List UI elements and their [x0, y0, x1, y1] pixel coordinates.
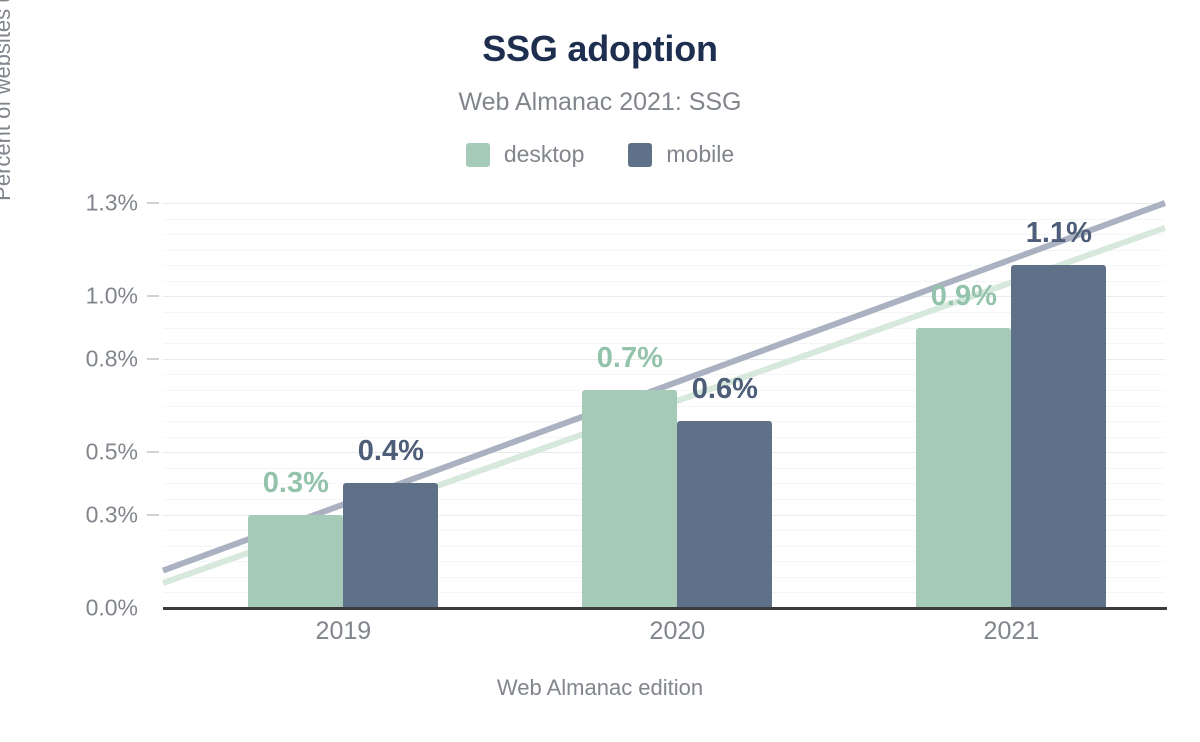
bar-value-label-mobile-2020: 0.6% [645, 373, 805, 406]
y-axis-tick-mark [147, 358, 159, 360]
y-axis-tick-label: 0.3% [18, 501, 138, 528]
x-axis-tick-label-2021: 2021 [891, 617, 1131, 646]
legend-item-desktop[interactable]: desktop [466, 141, 585, 168]
x-axis-baseline [163, 607, 1167, 610]
bar-mobile-2021[interactable] [1011, 265, 1106, 608]
bar-desktop-2020[interactable] [582, 390, 677, 608]
legend-item-label: mobile [666, 141, 734, 168]
legend-item-mobile[interactable]: mobile [628, 141, 734, 168]
legend-swatch-icon [628, 143, 652, 167]
chart-subtitle: Web Almanac 2021: SSG [0, 88, 1200, 117]
y-axis-tick-label: 1.0% [18, 283, 138, 310]
x-axis-tick-label-2019: 2019 [223, 617, 463, 646]
y-axis-tick-label: 0.5% [18, 439, 138, 466]
bar-value-label-desktop-2021: 0.9% [884, 280, 1044, 313]
bar-mobile-2019[interactable] [343, 483, 438, 608]
bar-desktop-2021[interactable] [916, 328, 1011, 608]
y-axis-tick-label: 0.8% [18, 345, 138, 372]
chart-legend: desktopmobile [0, 141, 1200, 168]
bar-mobile-2020[interactable] [677, 421, 772, 608]
y-axis-tick-mark [147, 514, 159, 516]
y-axis-tick-mark [147, 451, 159, 453]
bar-value-label-mobile-2021: 1.1% [979, 217, 1139, 250]
chart-container: SSG adoption Web Almanac 2021: SSG deskt… [0, 0, 1200, 742]
bar-desktop-2019[interactable] [248, 515, 343, 608]
legend-swatch-icon [466, 143, 490, 167]
legend-item-label: desktop [504, 141, 585, 168]
y-axis-title: Percent of websites using a SSG [0, 0, 16, 230]
y-axis-tick-mark [147, 202, 159, 204]
chart-title: SSG adoption [0, 28, 1200, 70]
bar-value-label-desktop-2019: 0.3% [216, 467, 376, 500]
x-axis-title: Web Almanac edition [0, 675, 1200, 701]
bar-value-label-desktop-2020: 0.7% [550, 342, 710, 375]
x-axis-tick-label-2020: 2020 [557, 617, 797, 646]
bar-value-label-mobile-2019: 0.4% [311, 435, 471, 468]
y-axis-tick-label: 0.0% [18, 595, 138, 622]
gridline-major [163, 203, 1165, 204]
y-axis-tick-label: 1.3% [18, 190, 138, 217]
y-axis-tick-mark [147, 295, 159, 297]
